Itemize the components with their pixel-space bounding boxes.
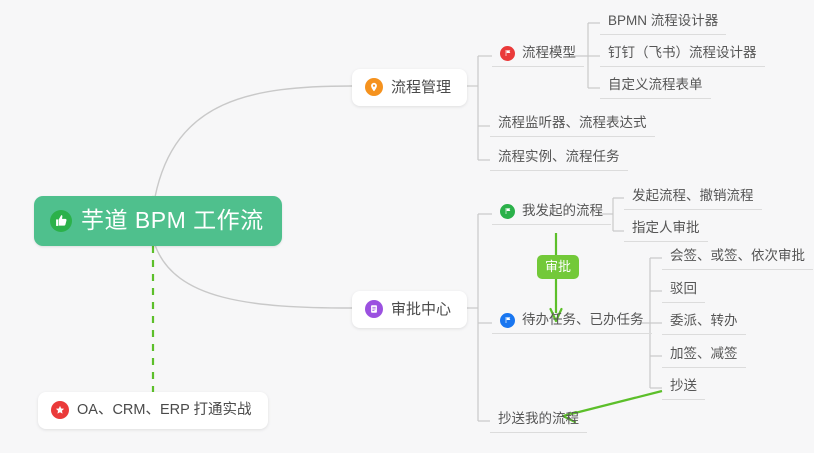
clipboard-icon <box>365 300 383 318</box>
node-process-instance-task[interactable]: 流程实例、流程任务 <box>490 146 628 171</box>
node-add-remove-sign[interactable]: 加签、减签 <box>662 343 746 368</box>
node-label: 发起流程、撤销流程 <box>632 188 754 204</box>
node-label: 驳回 <box>670 281 697 297</box>
node-dingtalk-feishu-designer[interactable]: 钉钉（飞书）流程设计器 <box>600 42 765 67</box>
root-node[interactable]: 芋道 BPM 工作流 <box>34 196 282 246</box>
edge-root-to-approval-center <box>155 245 352 308</box>
node-label: 待办任务、已办任务 <box>522 312 644 328</box>
node-custom-process-form[interactable]: 自定义流程表单 <box>600 74 711 99</box>
node-approval-center[interactable]: 审批中心 <box>352 291 467 328</box>
thumbs-up-icon <box>50 210 72 232</box>
node-designated-approver[interactable]: 指定人审批 <box>624 217 708 242</box>
node-label: 抄送 <box>670 378 697 394</box>
node-reject[interactable]: 驳回 <box>662 278 705 303</box>
node-process-listener-expression[interactable]: 流程监听器、流程表达式 <box>490 112 655 137</box>
node-label: 流程实例、流程任务 <box>498 149 620 165</box>
edge-root-to-process-management <box>155 86 352 197</box>
node-label: 加签、减签 <box>670 346 738 362</box>
node-start-cancel-process[interactable]: 发起流程、撤销流程 <box>624 185 762 210</box>
mindmap-canvas[interactable]: 芋道 BPM 工作流 流程管理 流程模型 BPMN 流程设计器 钉钉（飞书）流程… <box>0 0 814 453</box>
node-label: 流程模型 <box>522 45 576 61</box>
node-my-initiated-processes[interactable]: 我发起的流程 <box>492 200 611 225</box>
node-label: 自定义流程表单 <box>608 77 703 93</box>
node-label: 流程监听器、流程表达式 <box>498 115 647 131</box>
node-process-model[interactable]: 流程模型 <box>492 42 584 67</box>
node-label: 审批中心 <box>391 302 451 317</box>
flag-icon <box>500 204 515 219</box>
node-label: OA、CRM、ERP 打通实战 <box>77 403 252 418</box>
node-label: 指定人审批 <box>632 220 700 236</box>
node-label: 抄送我的流程 <box>498 411 579 427</box>
flag-icon <box>500 313 515 328</box>
approval-highlight-chip[interactable]: 审批 <box>537 255 579 279</box>
node-label: 我发起的流程 <box>522 203 603 219</box>
flag-icon <box>500 46 515 61</box>
node-label: 会签、或签、依次审批 <box>670 248 805 264</box>
node-bpmn-designer[interactable]: BPMN 流程设计器 <box>600 10 726 35</box>
node-cc-to-me-processes[interactable]: 抄送我的流程 <box>490 408 587 433</box>
node-todo-done-tasks[interactable]: 待办任务、已办任务 <box>492 309 652 334</box>
node-delegate-transfer[interactable]: 委派、转办 <box>662 310 746 335</box>
lightbulb-pin-icon <box>365 78 383 96</box>
node-label: 委派、转办 <box>670 313 738 329</box>
node-label: BPMN 流程设计器 <box>608 13 718 29</box>
node-cc[interactable]: 抄送 <box>662 375 705 400</box>
node-process-management[interactable]: 流程管理 <box>352 69 467 106</box>
node-label: 钉钉（飞书）流程设计器 <box>608 45 757 61</box>
node-countersign-approval[interactable]: 会签、或签、依次审批 <box>662 245 813 270</box>
star-icon <box>51 401 69 419</box>
root-label: 芋道 BPM 工作流 <box>81 209 264 232</box>
node-oa-crm-erp-note[interactable]: OA、CRM、ERP 打通实战 <box>38 392 268 429</box>
node-label: 流程管理 <box>391 80 451 95</box>
